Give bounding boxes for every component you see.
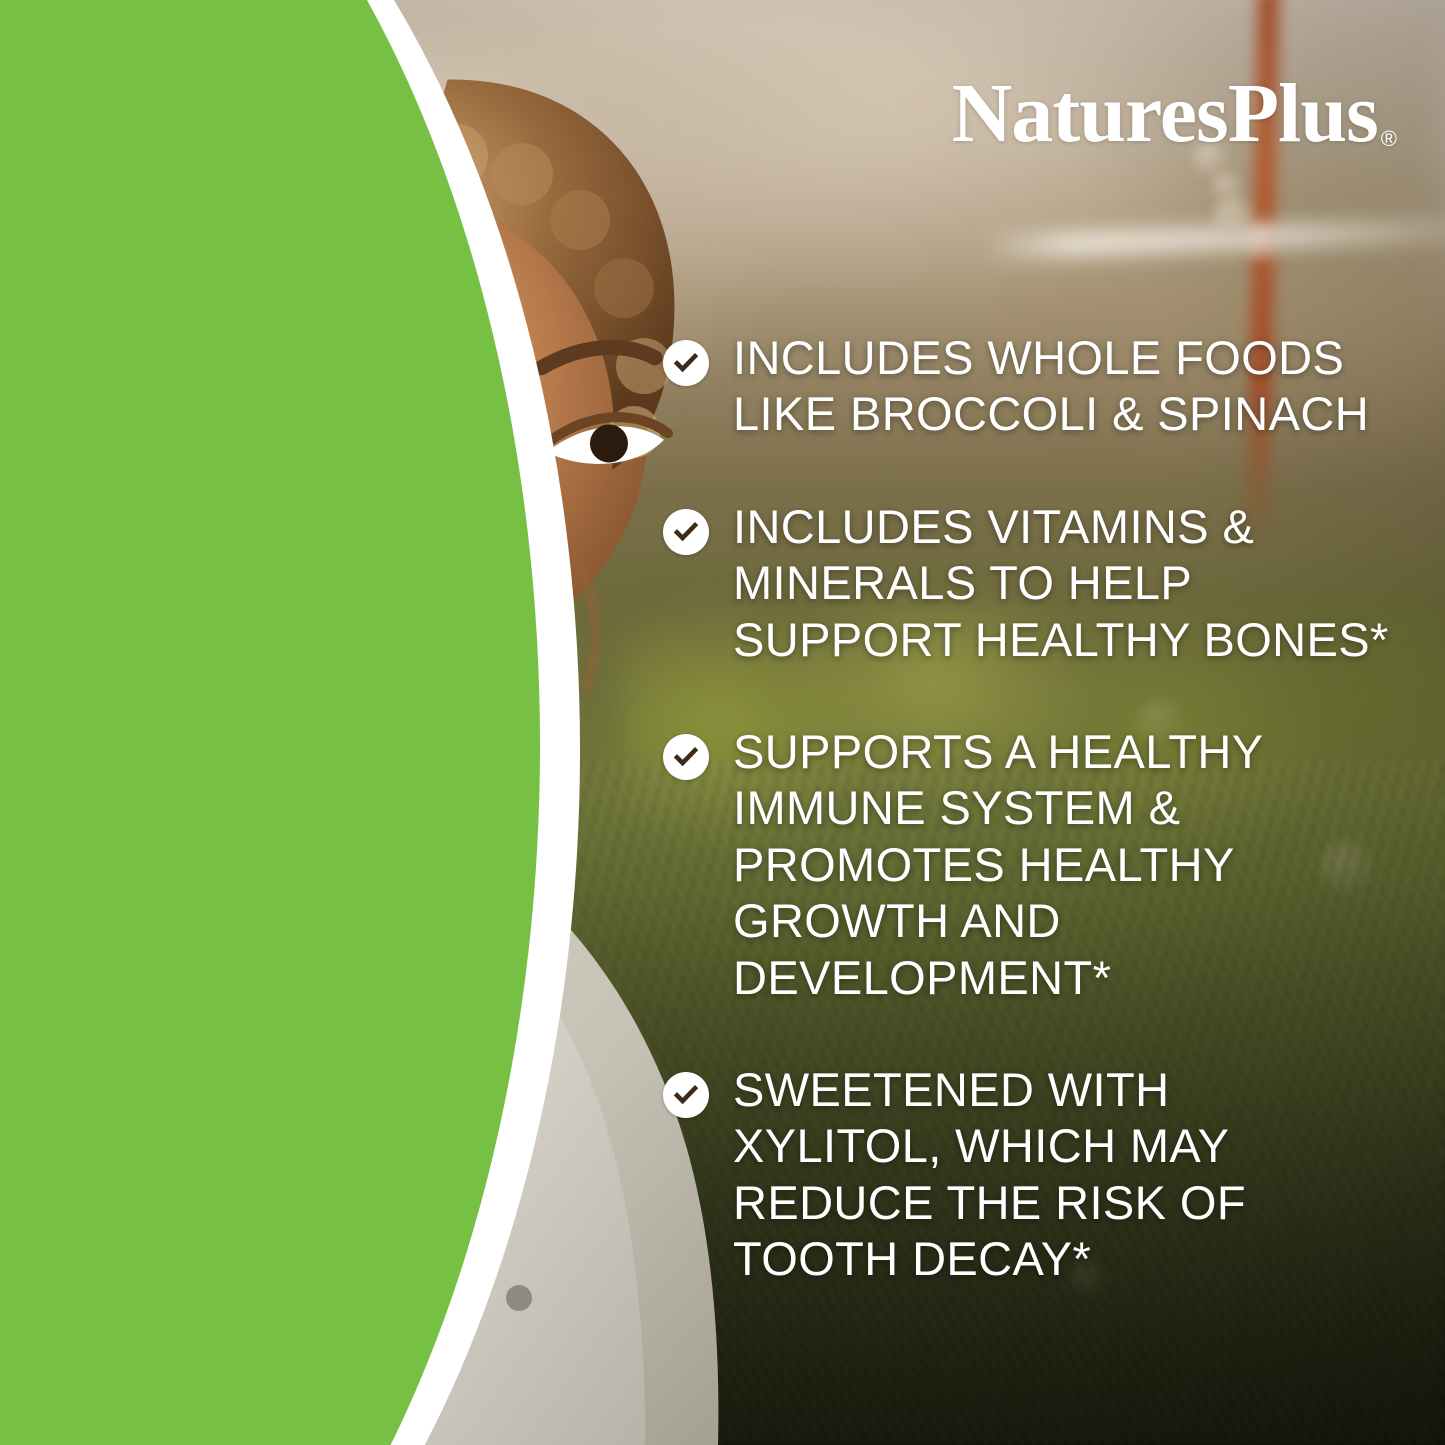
feature-bullet: INCLUDES VITAMINS & MINERALS TO HELP SUP… xyxy=(663,499,1423,668)
feature-bullet-text: SUPPORTS A HEALTHY IMMUNE SYSTEM & PROMO… xyxy=(733,724,1263,1006)
feature-bullet-list: INCLUDES WHOLE FOODS LIKE BROCCOLI & SPI… xyxy=(663,330,1423,1287)
feature-bullet-text: SWEETENED WITH XYLITOL, WHICH MAY REDUCE… xyxy=(733,1062,1246,1288)
check-circle-icon xyxy=(663,509,709,555)
check-circle-icon xyxy=(663,1072,709,1118)
feature-bullet: SUPPORTS A HEALTHY IMMUNE SYSTEM & PROMO… xyxy=(663,724,1423,1006)
product-feature-banner: NaturesPlus ® INCLUDES WHOLE FOODS LIKE … xyxy=(0,0,1445,1445)
green-brand-panel xyxy=(0,0,540,1445)
snap-button-2 xyxy=(506,1285,532,1311)
registered-trademark-icon: ® xyxy=(1381,128,1397,150)
feature-bullet: SWEETENED WITH XYLITOL, WHICH MAY REDUCE… xyxy=(663,1062,1423,1288)
feature-bullet-text: INCLUDES VITAMINS & MINERALS TO HELP SUP… xyxy=(733,499,1389,668)
feature-bullet-text: INCLUDES WHOLE FOODS LIKE BROCCOLI & SPI… xyxy=(733,330,1369,443)
brand-logo: NaturesPlus ® xyxy=(952,72,1397,156)
feature-bullet: INCLUDES WHOLE FOODS LIKE BROCCOLI & SPI… xyxy=(663,330,1423,443)
brand-logo-text: NaturesPlus xyxy=(952,72,1378,156)
check-circle-icon xyxy=(663,340,709,386)
check-circle-icon xyxy=(663,734,709,780)
